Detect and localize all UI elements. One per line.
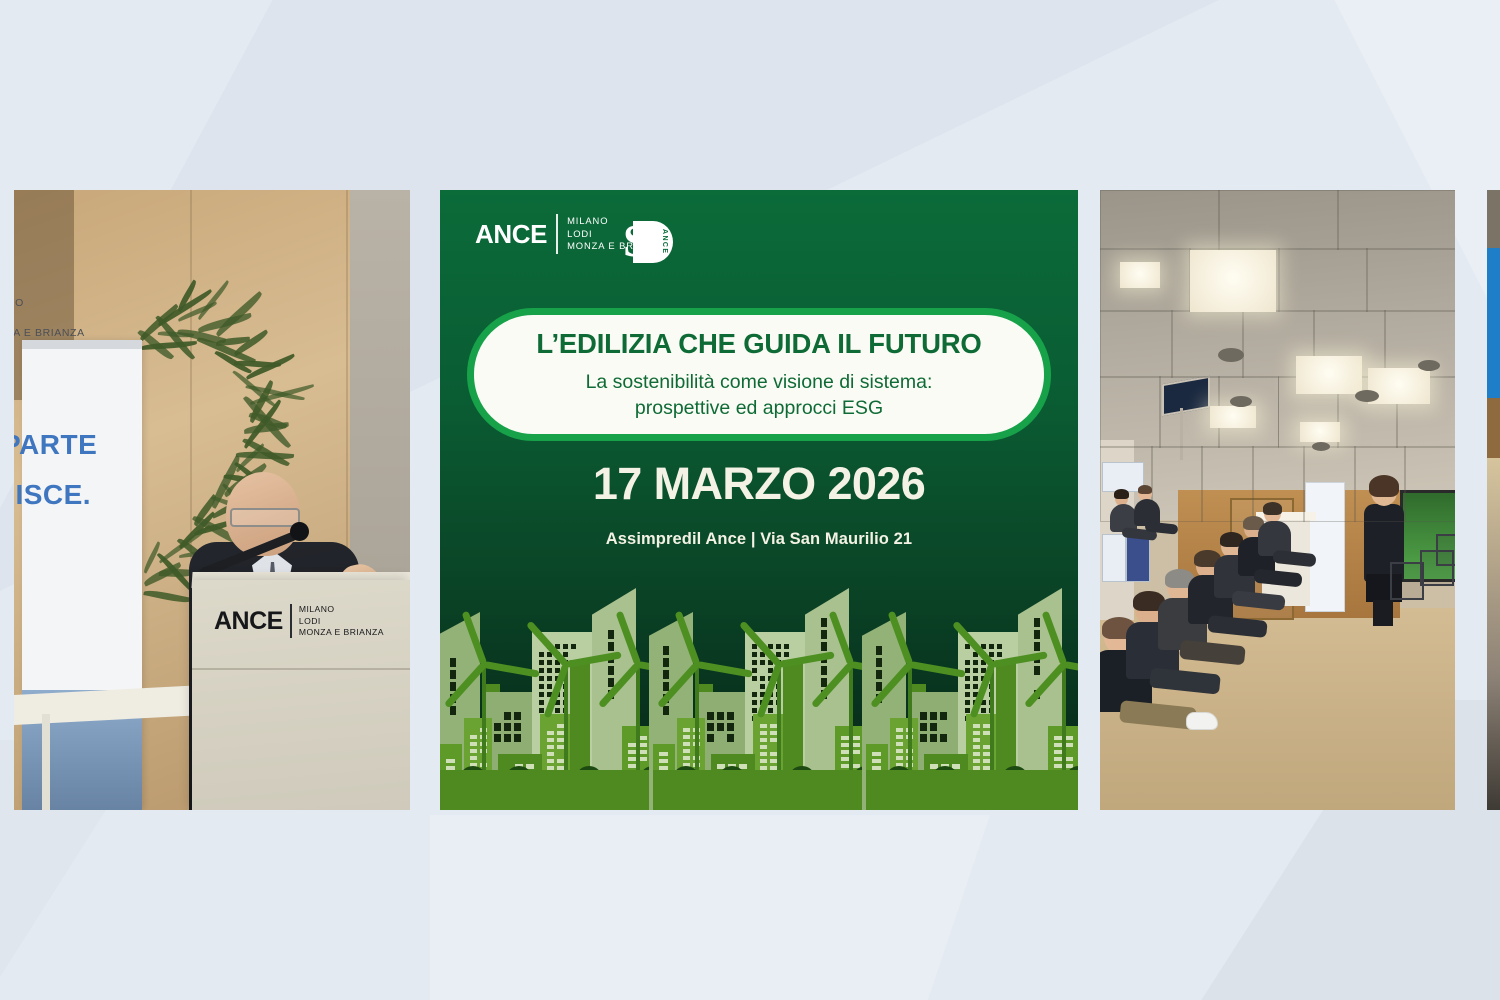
audience-hair (1114, 489, 1130, 499)
ceiling-tile (1218, 190, 1338, 250)
plant-leaf (143, 588, 191, 605)
ceiling-tile (1100, 190, 1220, 250)
building-window (727, 734, 734, 742)
audience-hair (1138, 485, 1153, 495)
wind-turbine-icon (536, 650, 596, 780)
wind-turbine-icon (880, 650, 940, 780)
ceiling-tile (1278, 248, 1369, 312)
edge-band-wood (1487, 398, 1500, 458)
building-window (776, 644, 781, 649)
skyline-segment (440, 565, 653, 810)
poster-date: 17 MARZO 2026 (440, 458, 1078, 510)
ceiling-vent-icon (1312, 442, 1330, 451)
skyline-segment (866, 565, 1078, 810)
building-window (940, 734, 947, 742)
ceiling-light-panel (1190, 250, 1276, 312)
podium-sublines: MILANO LODI MONZA E BRIANZA (299, 604, 384, 639)
podium-edge-line (192, 668, 410, 670)
poster-title: L’EDILIZIA CHE GUIDA IL FUTURO (536, 328, 981, 360)
building-window (1034, 630, 1040, 639)
rollup-banner (22, 340, 142, 810)
event-photo-gallery: MILANO LODI MONZA E BRIANZA A PARTE RUIS… (0, 190, 1500, 810)
glasses-icon (230, 508, 300, 527)
poster-subtitle-line-2: prospettive ed approcci ESG (586, 395, 933, 421)
photo-audience-room-scene (1100, 190, 1455, 810)
ceiling-tile (1171, 310, 1244, 378)
poster-canvas: ANCE MILANO LODI MONZA E BRIANZA S ANCE … (440, 190, 1078, 810)
rollup-banner-sublines: MILANO LODI MONZA E BRIANZA (14, 296, 130, 341)
turbine-pole (636, 662, 640, 780)
building-window (514, 712, 521, 720)
photo-audience-room[interactable] (1100, 190, 1455, 810)
ceiling-tile (1404, 446, 1455, 522)
ceiling-light-panel (1210, 406, 1256, 428)
edge-band-ceiling (1487, 190, 1500, 248)
ceiling-vent-icon (1230, 396, 1252, 407)
rollup-headline-line-2: RUISCE. (14, 470, 144, 520)
podium-brand: ANCE (214, 607, 283, 636)
wind-turbine-icon (749, 650, 809, 780)
turbine-pole (990, 662, 994, 780)
rollup-sub-line-3: MONZA E BRIANZA (14, 326, 130, 341)
ceiling-vent-icon (1355, 390, 1379, 402)
skyline-segment (653, 565, 866, 810)
turbine-pole (1062, 662, 1066, 780)
audience-legs (1272, 550, 1316, 567)
photo-speaker-podium-scene: MILANO LODI MONZA E BRIANZA A PARTE RUIS… (14, 190, 410, 810)
audience-legs (1145, 521, 1179, 534)
building-window (821, 618, 827, 627)
ceiling-vent-icon (1418, 360, 1440, 371)
poster-logo-divider (556, 214, 558, 254)
emblem-vertical-text: ANCE (661, 229, 668, 254)
audience-member (1134, 486, 1182, 552)
ceiling-light-panel (1120, 262, 1160, 288)
building-window (989, 644, 994, 649)
ceiling-light-panel (1300, 422, 1340, 442)
podium-sub-line-1: MILANO (299, 604, 384, 616)
turbine-pole (908, 662, 912, 780)
building-window (727, 712, 734, 720)
photo-cropped-edge[interactable] (1487, 190, 1500, 810)
ceiling-light-panel (1296, 356, 1362, 394)
building-window (514, 723, 521, 731)
turbine-pole (564, 662, 568, 780)
rollup-headline-line-1: A PARTE (14, 420, 144, 470)
ceiling-tile (1201, 446, 1254, 522)
podium-logo-divider (290, 604, 292, 638)
ceiling-tile (1337, 190, 1455, 250)
building-window (571, 644, 576, 649)
skyline-ground (653, 770, 866, 810)
presenter-legs (1373, 600, 1393, 626)
bg-diagonal-shape-5 (430, 815, 990, 1000)
microphone-head (290, 522, 309, 541)
page-root: { "page": { "background_color": "#e4eaf1… (0, 0, 1500, 1000)
wind-turbine-icon (454, 650, 514, 780)
audience-member (1258, 504, 1321, 590)
wind-turbine-icon (962, 650, 1022, 780)
ceiling-vent-icon (1218, 348, 1244, 362)
building-window (727, 723, 734, 731)
building-window (563, 644, 568, 649)
poster-subtitle: La sostenibilità come visione di sistema… (586, 369, 933, 421)
wind-turbine-icon (1034, 650, 1078, 780)
green-city-skyline-illustration (440, 565, 1078, 810)
side-table-leg (42, 714, 50, 810)
skyline-ground (866, 770, 1078, 810)
building-window (940, 712, 947, 720)
poster-brand: ANCE (475, 221, 547, 247)
podium-logo: ANCE MILANO LODI MONZA E BRIANZA (214, 604, 384, 639)
rollup-banner-cap (22, 340, 142, 349)
turbine-pole (777, 662, 781, 780)
building-window (784, 644, 789, 649)
ceiling-tile (1354, 446, 1407, 522)
building-window (514, 734, 521, 742)
building-window (608, 630, 614, 639)
turbine-pole (849, 662, 853, 780)
turbine-pole (695, 662, 699, 780)
chair (1436, 534, 1455, 566)
poster-venue: Assimpredil Ance | Via San Maurilio 21 (440, 530, 1078, 549)
plant-leaf (213, 291, 264, 337)
rollup-banner-headline: A PARTE RUISCE. (14, 420, 144, 520)
ance-emblem-icon: S ANCE (621, 219, 673, 267)
audience-hair (1263, 502, 1282, 515)
rollup-sub-line-2: LODI (14, 311, 130, 326)
poster-evento[interactable]: ANCE MILANO LODI MONZA E BRIANZA S ANCE … (440, 190, 1078, 810)
podium-sub-line-3: MONZA E BRIANZA (299, 627, 384, 639)
poster-logo: ANCE MILANO LODI MONZA E BRIANZA S ANCE (475, 214, 666, 254)
photo-cropped-edge-scene (1487, 190, 1500, 810)
poster-subtitle-line-1: La sostenibilità come visione di sistema… (586, 369, 933, 395)
turbine-pole (482, 662, 486, 780)
wind-turbine-icon (667, 650, 727, 780)
photo-speaker-podium[interactable]: MILANO LODI MONZA E BRIANZA A PARTE RUIS… (14, 190, 410, 810)
edge-band-floor (1487, 458, 1500, 810)
skyline-ground (440, 770, 653, 810)
building-window (1034, 618, 1040, 627)
ceiling-tile (1100, 376, 1161, 448)
ceiling-tile (1366, 248, 1455, 312)
poster-title-pill: L’EDILIZIA CHE GUIDA IL FUTURO La sosten… (467, 308, 1051, 441)
emblem-swirl-glyph: S (623, 219, 663, 265)
building-window (821, 630, 827, 639)
building-window (997, 644, 1002, 649)
ceiling-tile (1100, 310, 1173, 378)
chair (1390, 562, 1424, 600)
rollup-sub-line-1: MILANO (14, 296, 130, 311)
podium-sub-line-2: LODI (299, 616, 384, 628)
edge-band-blue (1487, 248, 1500, 398)
